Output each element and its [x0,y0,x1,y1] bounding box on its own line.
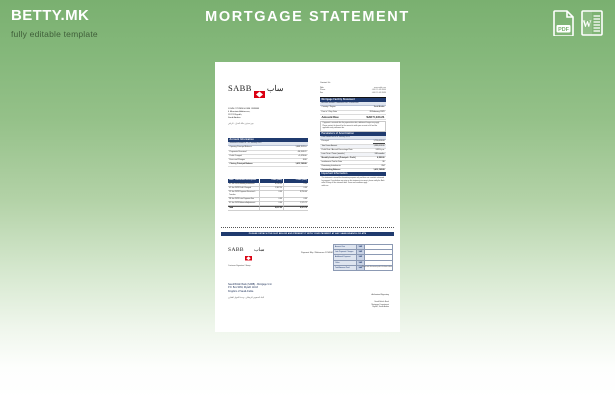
cell-debit: 1,367.50 [260,187,284,190]
slip-grid-footnote: Please write the amount paid in the boxe… [333,266,393,269]
table-total-row: Total 9,617.50 9,371.72 [228,206,308,211]
row-label: Country / Region [322,106,336,109]
row-value: 1,613,742.88 [295,163,306,166]
row-value: 1,980,000.00 [373,145,384,148]
contact-block: Contact Us Web www.sabb.com Phone +966 1… [320,82,386,98]
table-row: 15 Jan 2023 Payment Received - Transfer … [228,191,308,198]
row-label: Instalments Paid to Date [322,161,343,164]
important-footer: sabb.com [320,186,386,188]
slip-field-currency: SAR [357,250,365,254]
important-heading: Important Information [320,172,386,176]
row-label: Loan Term / Tenor (months) [322,153,345,156]
amount-due-value: SAR 5,134.21 [366,115,384,120]
row-value: 1,648,702.10 [295,146,306,149]
document-sheet[interactable]: SABB ساب JOHN CITIZEN HOME OWNER 4 Mount… [215,62,400,332]
contact-label: Fax [320,92,323,95]
hexagon-mark-icon [245,248,252,253]
row-value: 8,250.00 [377,157,384,160]
cell-total-credit: 9,371.72 [284,206,308,210]
remit-arabic: البنك السعودي البريطاني - وحدة التمويل ا… [228,297,308,300]
pdf-file-icon[interactable]: PDF [553,10,575,36]
svg-text:PDF: PDF [558,27,569,33]
remit-line-3: Kingdom of Saudi Arabia [228,291,308,294]
hexagon-mark-icon [254,85,265,92]
slip-signature-note: Customer Signature / Stamp [228,265,251,268]
slip-bank-name-arabic: ساب [254,247,264,253]
recipient-line-4: Saudi Arabia [228,117,300,120]
cell-total-debit: 9,617.50 [260,206,284,210]
row-label: Total Loan Amount [322,145,338,148]
signature-line-1: Authorised Signatory [327,294,389,297]
row-value: 3.99% p.a. [375,149,384,152]
slip-field-label: Additional Payment [334,255,357,259]
slip-field-currency: SAR [357,261,365,265]
important-information-panel: Important Information This statement is … [320,172,386,189]
detach-band: PLEASE DETACH THE SLIP BELOW AND PRESENT… [221,232,394,236]
row-label: Monthly Instalment (Principal + Profit) [322,157,356,160]
cell-credit: 1,121.72 [284,202,308,205]
contact-row: Fax +966 11 440 8486 [320,92,386,95]
cell-debit: 8,250.00 [260,183,284,186]
row-value: 204 [381,165,384,168]
row-value: -34,993.22 [297,151,306,154]
row-value: 36 [382,161,384,164]
cell-debit: 0.00 [260,191,284,197]
format-icons: PDF W [553,10,603,36]
bank-name-arabic: ساب [267,84,284,93]
statement-note: If payment is received after the payment… [320,121,386,132]
cell-description: 28 Jan 2023 Late Payment Fee [228,198,260,201]
row-label: Profit Charged [230,155,242,158]
cell-debit: 0.00 [260,198,284,201]
contact-value: +966 11 440 8486 [372,92,386,95]
row-value: Saudi Arabia [374,106,385,109]
cell-credit: 0.00 [284,187,308,190]
row-value: 0.00 [303,159,307,162]
row-label: Due in 1 Day Date [322,111,337,114]
top-banner: BETTY.MK fully editable template MORTGAG… [0,0,615,52]
account-row: Closing Principal Balance 1,613,742.88 [228,163,308,167]
slip-field-label: Amount Due [334,245,357,249]
cell-credit: 0.00 [284,198,308,201]
amortization-panel: Parameters of Amortization Loan Details … [320,132,386,173]
row-label: Closing Principal Balance [230,163,253,166]
slip-field-currency: SAR [357,255,365,259]
remit-to-block: Saudi British Bank (SABB) - Mortgage Uni… [228,284,308,299]
row-label: Remaining Instalments [322,165,341,168]
slip-bank-logo: SABB ساب [228,247,264,253]
recipient-arabic: جون سيتيزن مالك المنزل - الرياض [228,123,300,126]
slip-bank-name-latin: SABB [228,247,244,253]
slip-field-label: Other [334,261,357,265]
account-information-panel: Account Information Statement Period: 01… [228,138,308,167]
slip-reference: Payment Slip / Reference 1234567890 [301,252,337,255]
slip-field-currency: SAR [357,245,365,249]
row-value: 1,750,000.00 [373,140,384,143]
slip-field-input[interactable] [365,255,392,259]
cell-description: 15 Jan 2023 Payment Received - Transfer [228,191,260,197]
row-label: Fees and Charges [230,159,246,162]
page-title: MORTGAGE STATEMENT [0,9,615,25]
transactions-table: Date / Transaction Description Debit (SA… [228,179,308,211]
contact-heading: Contact Us [320,82,386,85]
cell-credit: 0.00 [284,183,308,186]
slip-field-input[interactable] [365,261,392,265]
bank-logo: SABB ساب [228,83,283,93]
slip-field-input[interactable] [365,250,392,254]
row-label: Opening Principal Balance [230,146,252,149]
word-file-icon[interactable]: W [581,10,603,36]
cell-credit: 8,250.00 [284,191,308,197]
amount-due-row: Amount Due SAR 5,134.21 [320,115,386,121]
recipient-address: JOHN CITIZEN HOME OWNER 4 Mountain Addre… [228,108,300,126]
row-label: Profit Rate / Annual Percentage Rate [322,149,353,152]
important-body: This statement is issued for information… [320,177,386,186]
row-value: +5,470.00 [298,155,306,158]
brand-tagline: fully editable template [11,28,98,40]
cell-description: 02 Jan 2023 Profit Charged [228,187,260,190]
row-label: Principal [322,140,329,143]
slip-reference-label: Payment Slip / Reference [301,252,325,254]
cell-debit: 0.00 [260,202,284,205]
signature-line-4: Riyadh, Saudi Arabia [327,306,389,309]
cell-description: 02 Jan 2023 Monthly Instalment [228,183,260,186]
row-value: 28 February 2023 [370,111,385,114]
row-label: Payments Received [230,151,247,154]
cell-description: 31 Jan 2023 Balance Adjustment [228,202,260,205]
bank-name-latin: SABB [228,83,252,93]
signature-block: Authorised Signatory Saudi British Bank … [327,294,389,309]
svg-text:W: W [583,19,592,29]
tear-off-line [221,227,394,228]
cell-total-label: Total [228,206,260,210]
slip-field-input[interactable] [365,245,392,249]
amount-due-label: Amount Due [322,115,339,120]
row-value: 240 months [375,153,385,156]
slip-field-label: Late Payment Charges [334,250,357,254]
